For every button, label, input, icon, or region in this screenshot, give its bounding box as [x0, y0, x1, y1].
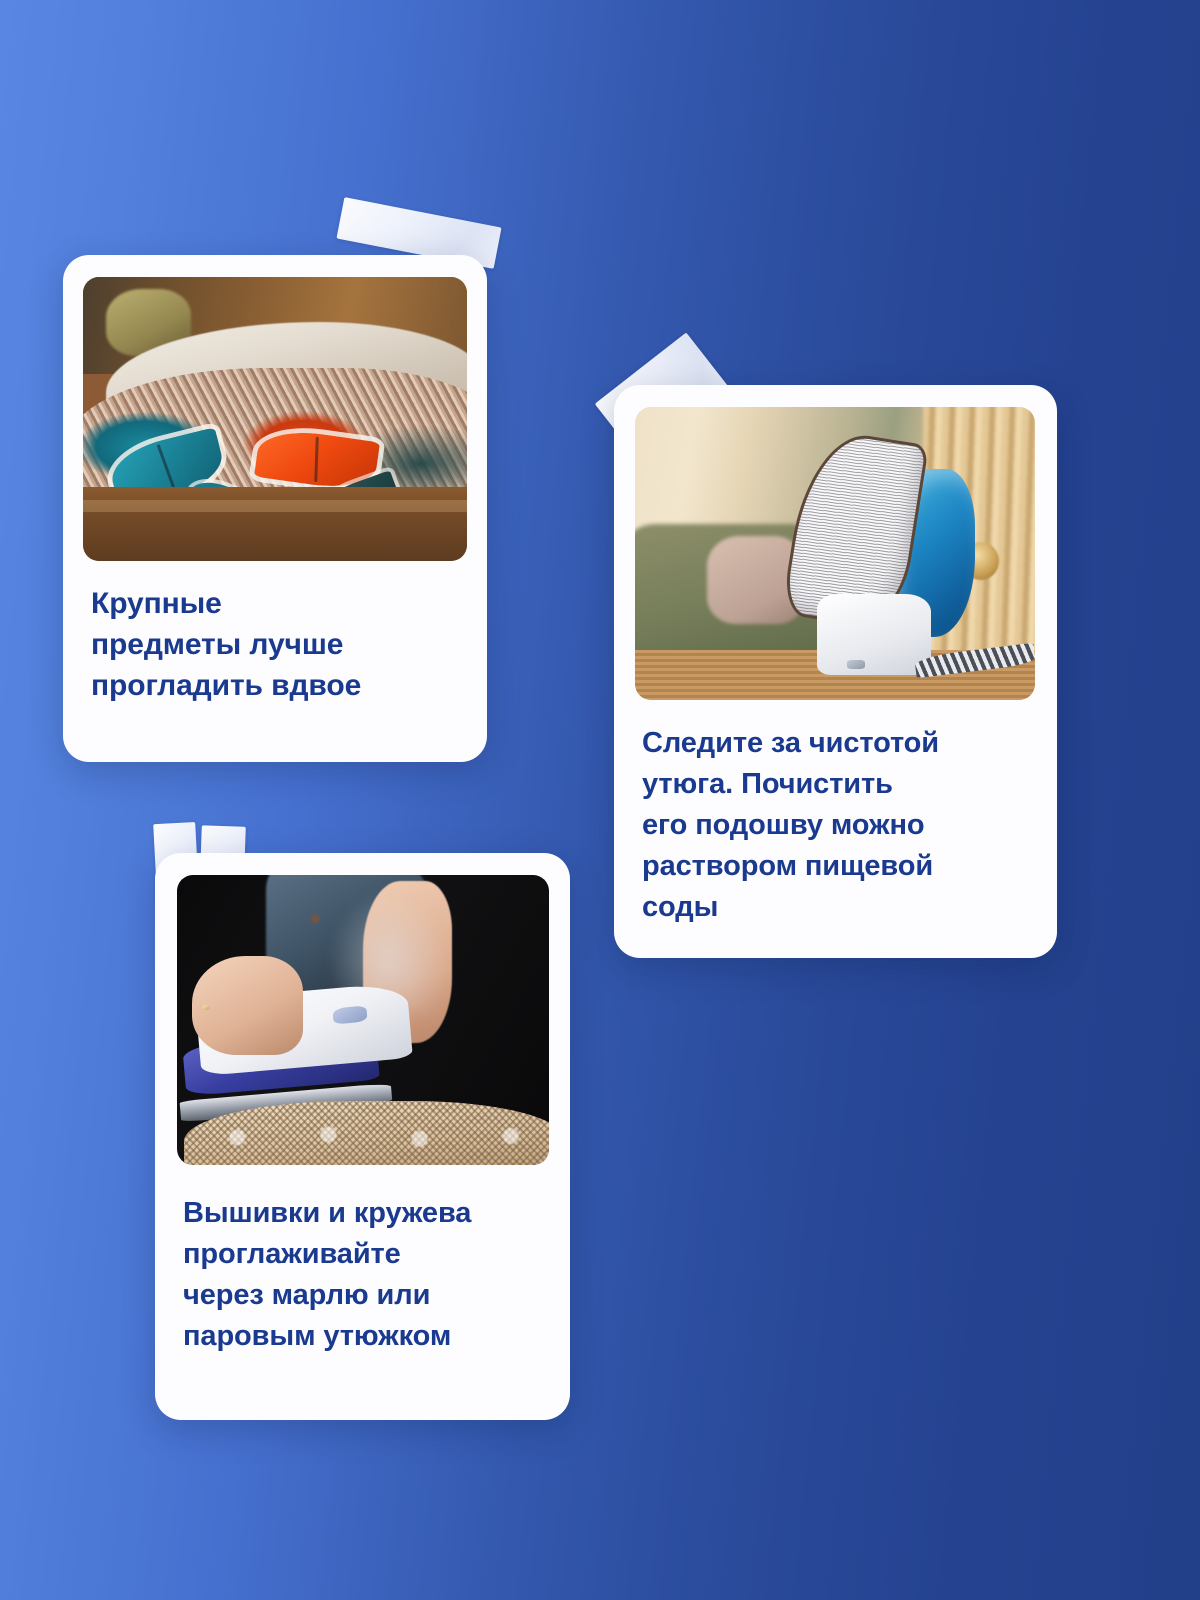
tip-card-3[interactable]: Вышивки и кружева проглаживайте через ма…	[155, 853, 570, 1420]
ironing-tips-slide: Крупные предметы лучше прогладить вдвое …	[0, 0, 1200, 1600]
blue-steam-iron-photo	[635, 407, 1035, 700]
tip-card-1-caption: Крупные предметы лучше прогладить вдвое	[91, 583, 463, 706]
hand-ironing-lace-photo	[177, 875, 549, 1165]
tip-card-3-caption: Вышивки и кружева проглаживайте через ма…	[183, 1193, 555, 1357]
tip-card-2-caption: Следите за чистотой утюга. Почистить его…	[642, 723, 1034, 928]
tip-card-1[interactable]: Крупные предметы лучше прогладить вдвое	[63, 255, 487, 762]
tip-card-2[interactable]: Следите за чистотой утюга. Почистить его…	[614, 385, 1057, 958]
bed-with-patterned-duvet-photo	[83, 277, 467, 561]
